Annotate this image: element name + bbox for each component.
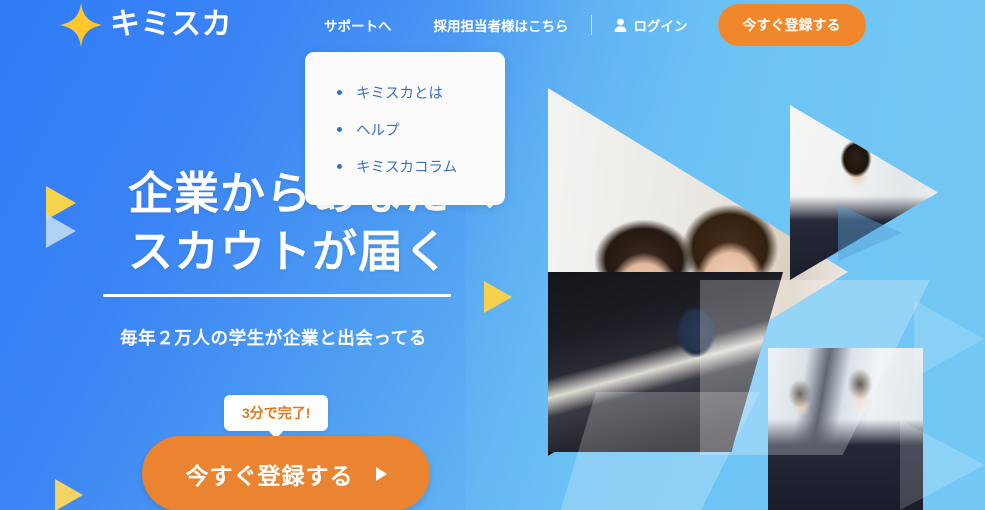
right-gradient-wash	[465, 0, 985, 510]
decor-arrow-yellow-bottom-icon	[55, 479, 83, 510]
decor-arrow-yellow-middle-icon	[484, 281, 512, 313]
hero-register-label: 今すぐ登録する	[186, 457, 354, 491]
dropdown-item-label: キミスカとは	[356, 82, 443, 103]
nav-link-recruiter[interactable]: 採用担当者様はこちら	[434, 15, 569, 35]
overlay-triangle-3	[560, 392, 760, 510]
hero-subheadline: 毎年２万人の学生が企業と出会ってる	[120, 325, 427, 350]
logo-text: キミスカ	[110, 10, 232, 40]
photo-handshake	[768, 348, 923, 510]
dropdown-item-about[interactable]: キミスカとは	[305, 74, 505, 111]
header-register-button[interactable]: 今すぐ登録する	[718, 4, 866, 46]
bullet-icon	[337, 127, 342, 132]
logo[interactable]: キミスカ	[60, 3, 232, 47]
nav-divider	[591, 15, 592, 35]
headline-divider	[103, 294, 451, 297]
dropdown-item-label: キミスカコラム	[356, 156, 457, 177]
bullet-icon	[337, 164, 342, 169]
nav-login-label: ログイン	[634, 15, 688, 35]
decor-arrow-blue-icon	[46, 214, 76, 248]
photo-businesswomen	[548, 88, 848, 456]
bullet-icon	[337, 90, 342, 95]
cta-badge: 3分で完了!	[224, 395, 328, 431]
headline-line-2: スカウトが届く	[128, 223, 496, 281]
overlay-triangle-4	[900, 420, 985, 510]
nav-link-support[interactable]: サポートへ	[324, 15, 392, 35]
overlay-triangle-1	[838, 205, 902, 261]
hero-banner: キミスカ サポートへ 採用担当者様はこちら ログイン 今すぐ登録する キミスカと…	[0, 0, 985, 510]
user-icon	[614, 18, 627, 32]
support-dropdown-menu: キミスカとは ヘルプ キミスカコラム	[305, 52, 505, 205]
dropdown-item-help[interactable]: ヘルプ	[305, 111, 505, 148]
photo-man-with-phone	[790, 105, 938, 280]
site-header: キミスカ サポートへ 採用担当者様はこちら ログイン 今すぐ登録する	[0, 0, 985, 50]
dropdown-item-column[interactable]: キミスカコラム	[305, 148, 505, 185]
overlay-triangle-5	[914, 300, 984, 378]
photo-suits-notebook	[548, 272, 783, 452]
hero-register-button[interactable]: 今すぐ登録する	[142, 436, 430, 510]
nav-link-login[interactable]: ログイン	[614, 15, 688, 35]
header-nav: サポートへ 採用担当者様はこちら ログイン 今すぐ登録する	[324, 4, 866, 46]
sparkle-star-icon	[60, 3, 102, 47]
overlay-triangle-2	[700, 280, 930, 455]
play-caret-icon	[376, 467, 387, 481]
dropdown-item-label: ヘルプ	[356, 119, 400, 140]
